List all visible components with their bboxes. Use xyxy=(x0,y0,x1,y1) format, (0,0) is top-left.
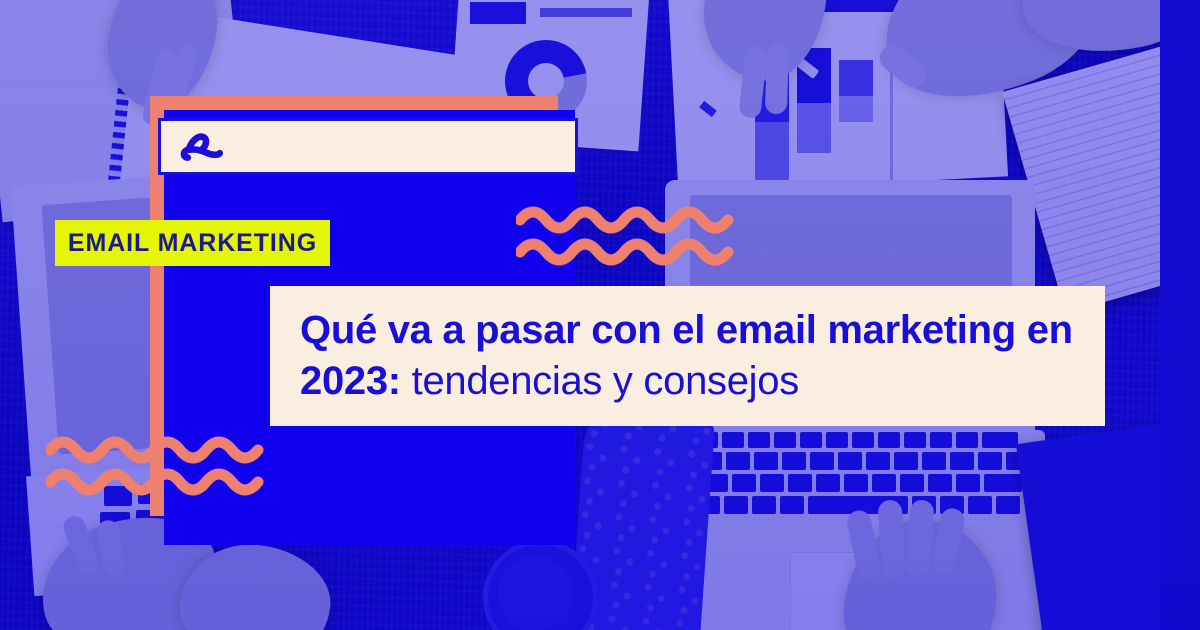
category-badge[interactable]: EMAIL MARKETING xyxy=(55,220,330,266)
page-title: Qué va a pasar con el email marketing en… xyxy=(270,305,1105,407)
title-card: Qué va a pasar con el email marketing en… xyxy=(270,286,1105,426)
cover-canvas: EMAIL MARKETING Qué va a pasar con el em… xyxy=(0,0,1200,630)
loop-squiggle-icon xyxy=(179,130,225,164)
cream-top-bar xyxy=(158,118,578,175)
category-badge-label: EMAIL MARKETING xyxy=(68,229,317,258)
page-title-regular: tendencias y consejos xyxy=(401,359,799,403)
squiggle-top-right xyxy=(516,200,736,270)
squiggle-bottom-left xyxy=(46,430,271,500)
